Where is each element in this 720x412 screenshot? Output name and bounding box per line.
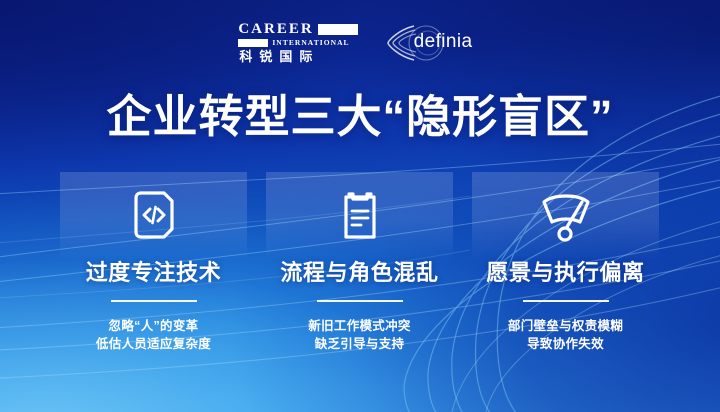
definia-wordmark: definia [414,32,473,52]
definia-logo: definia [384,23,482,63]
card-subtitle-line-2: 导致协作失效 [472,335,659,353]
poster-canvas: CAREER INTERNATIONAL 科锐国际 definia [0,0,720,412]
career-block-bar [318,24,358,35]
career-international-logo: CAREER INTERNATIONAL 科锐国际 [238,22,357,64]
card-vision-execution-gap[interactable]: 愿景与执行偏离 部门壁垒与权责模糊 导致协作失效 [472,172,659,387]
card-subtitle-line-1: 部门壁垒与权责模糊 [472,317,659,335]
card-title: 过度专注技术 [60,260,247,286]
page-title: 企业转型三大“隐形盲区” [0,92,720,142]
card-subtitle: 新旧工作模式冲突 缺乏引导与支持 [266,317,453,353]
card-title: 愿景与执行偏离 [472,260,659,286]
card-subtitle: 部门壁垒与权责模糊 导致协作失效 [472,317,659,353]
clipboard-lines-icon [266,186,453,248]
card-divider [317,300,403,302]
career-wordmark: CAREER [238,22,313,37]
card-subtitle-line-1: 新旧工作模式冲突 [266,317,453,335]
card-subtitle: 忽略“人”的变革 低估人员适应复杂度 [60,317,247,353]
card-over-focus-on-technology[interactable]: 过度专注技术 忽略“人”的变革 低估人员适应复杂度 [60,172,247,387]
compass-protractor-icon [472,186,659,248]
card-subtitle-line-1: 忽略“人”的变革 [60,317,247,335]
card-process-and-role-confusion[interactable]: 流程与角色混乱 新旧工作模式冲突 缺乏引导与支持 [266,172,453,387]
card-divider [111,300,197,302]
career-chinese-name: 科锐国际 [238,50,319,64]
card-divider [523,300,609,302]
card-title: 流程与角色混乱 [266,260,453,286]
logo-bar: CAREER INTERNATIONAL 科锐国际 definia [0,22,720,64]
career-subtitle: INTERNATIONAL [272,39,349,47]
code-document-icon [60,186,247,248]
card-subtitle-line-2: 低估人员适应复杂度 [60,335,247,353]
card-subtitle-line-2: 缺乏引导与支持 [266,335,453,353]
blind-spot-cards: 过度专注技术 忽略“人”的变革 低估人员适应复杂度 流程与角色混乱 [60,172,660,387]
career-block-bar-small [238,39,268,47]
